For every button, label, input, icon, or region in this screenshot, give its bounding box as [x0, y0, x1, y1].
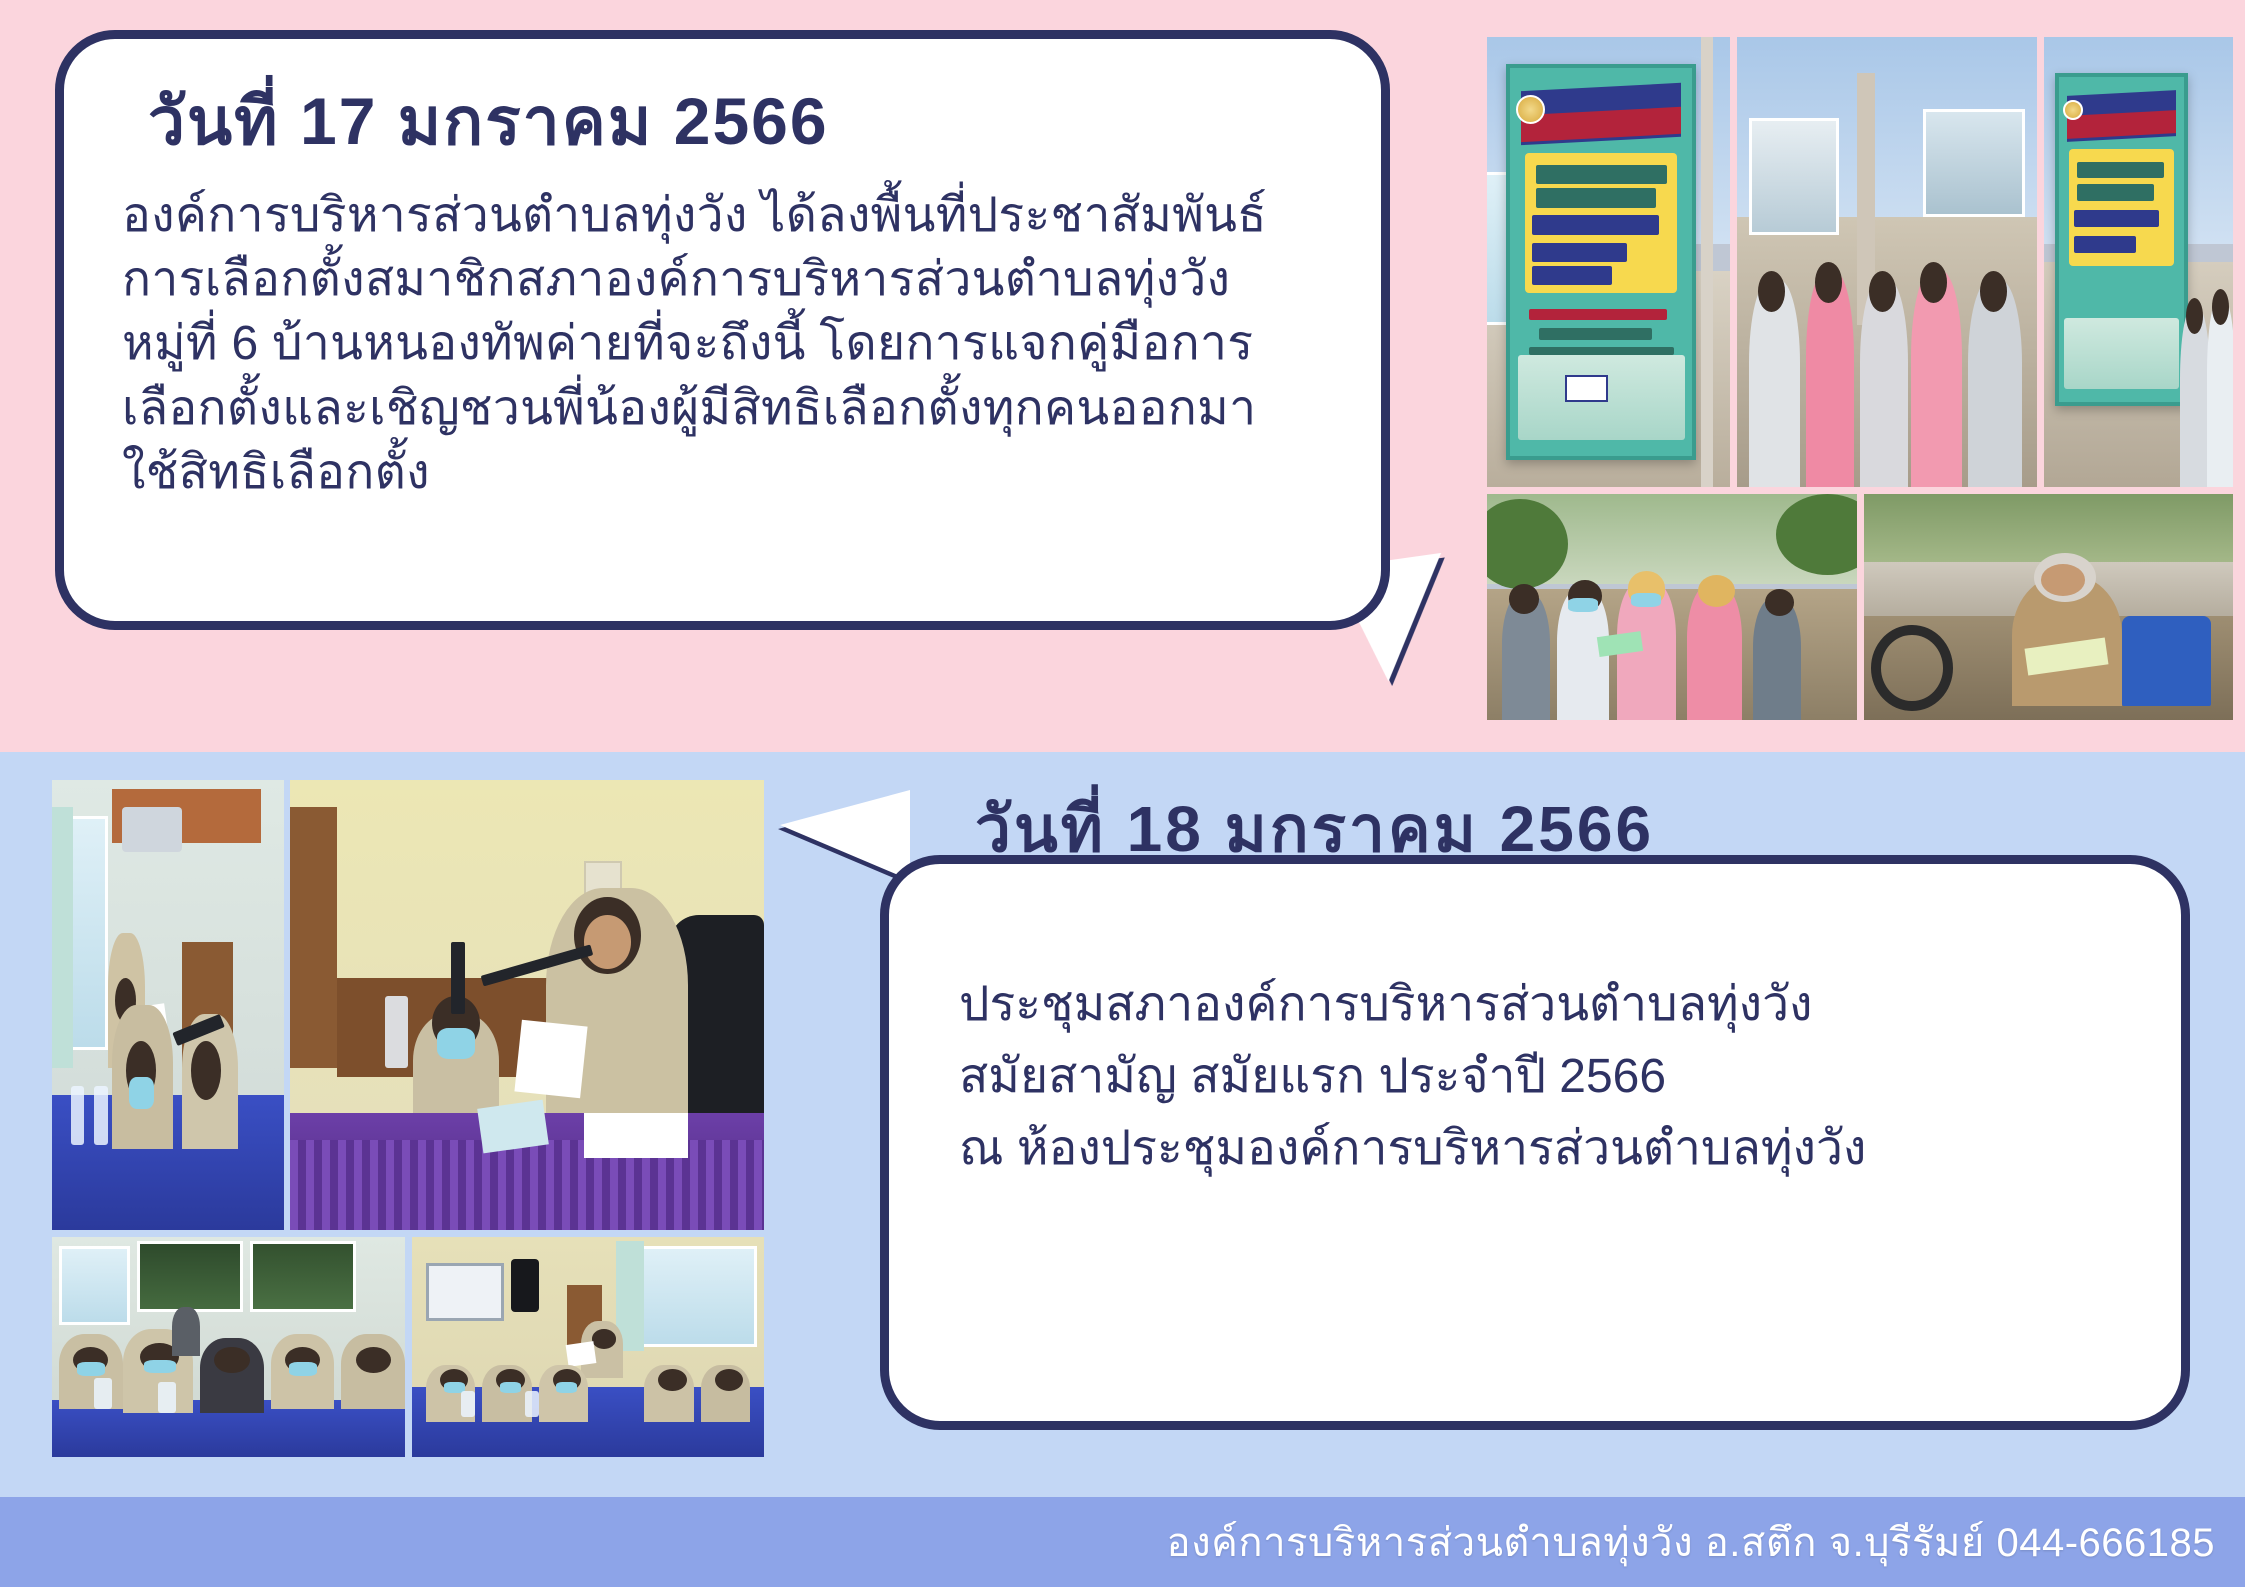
footer-contact-text: องค์การบริหารส่วนตำบลทุ่งวัง อ.สตึก จ.บุ…: [1167, 1510, 2215, 1574]
photo-meeting-speaker: [52, 780, 284, 1230]
body-text-january-18: ประชุมสภาองค์การบริหารส่วนตำบลทุ่งวัง สม…: [889, 864, 2181, 1185]
footer-bar: องค์การบริหารส่วนตำบลทุ่งวัง อ.สตึก จ.บุ…: [0, 1497, 2245, 1587]
photo-meeting-room: [412, 1237, 764, 1457]
photo-banner-left: [1487, 37, 1730, 487]
photo-meeting-chairman: [290, 780, 764, 1230]
body-text-january-17: องค์การบริหารส่วนตำบลทุ่งวัง ได้ลงพื้นที…: [122, 184, 1327, 506]
heading-january-17: วันที่ 17 มกราคม 2566: [148, 85, 1327, 158]
photo-banner-right: [2044, 37, 2233, 487]
photo-villagers-walk: [1487, 494, 1857, 720]
body-line: ใช้สิทธิเลือกตั้ง: [122, 441, 1327, 505]
body-line: สมัยสามัญ สมัยแรก ประจำปี 2566: [959, 1041, 2181, 1113]
body-line: องค์การบริหารส่วนตำบลทุ่งวัง ได้ลงพื้นที…: [122, 184, 1327, 248]
speech-bubble-january-18: ประชุมสภาองค์การบริหารส่วนตำบลทุ่งวัง สม…: [880, 855, 2190, 1430]
photo-officials-group: [1737, 37, 2037, 487]
heading-january-18: วันที่ 18 มกราคม 2566: [975, 778, 1654, 880]
photo-meeting-members-1: [52, 1237, 405, 1457]
body-line: การเลือกตั้งสมาชิกสภาองค์การบริหารส่วนตำ…: [122, 248, 1327, 312]
body-line: หมู่ที่ 6 บ้านหนองทัพค่ายที่จะถึงนี้ โดย…: [122, 312, 1327, 376]
photo-elder-villager: [1864, 494, 2233, 720]
body-line: ประชุมสภาองค์การบริหารส่วนตำบลทุ่งวัง: [959, 969, 2181, 1041]
body-line: ณ ห้องประชุมองค์การบริหารส่วนตำบลทุ่งวัง: [959, 1113, 2181, 1185]
speech-bubble-january-17: วันที่ 17 มกราคม 2566 องค์การบริหารส่วนต…: [55, 30, 1390, 630]
body-line: เลือกตั้งและเชิญชวนพี่น้องผู้มีสิทธิเลือ…: [122, 377, 1327, 441]
